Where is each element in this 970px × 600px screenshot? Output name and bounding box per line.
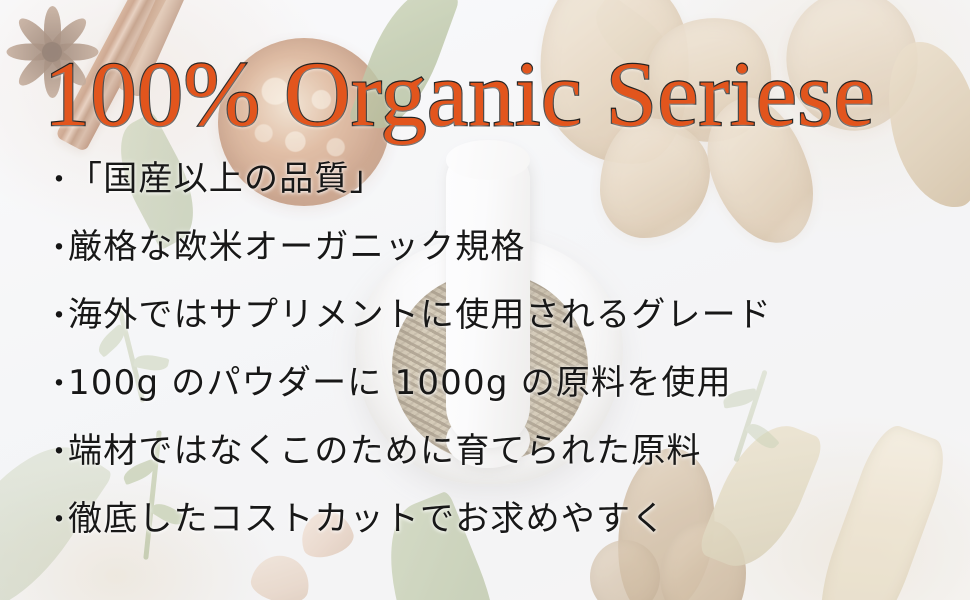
list-item: ・ 厳格な欧米オーガニック規格 bbox=[44, 230, 944, 298]
list-item-label: 端材ではなくこのために育てられた原料 bbox=[68, 434, 702, 468]
list-item-label: 海外ではサプリメントに使用されるグレード bbox=[68, 298, 772, 332]
list-item-label: 「国産以上の品質」 bbox=[68, 162, 385, 196]
list-item: ・ 「国産以上の品質」 bbox=[44, 162, 944, 230]
list-item: ・ 端材ではなくこのために育てられた原料 bbox=[44, 434, 944, 502]
list-item: ・ 海外ではサプリメントに使用されるグレード bbox=[44, 298, 944, 366]
bullet-dot-icon: ・ bbox=[44, 438, 68, 468]
list-item-label: 100g のパウダーに 1000g の原料を使用 bbox=[68, 366, 732, 400]
bullet-dot-icon: ・ bbox=[44, 302, 68, 332]
bullet-dot-icon: ・ bbox=[44, 234, 68, 264]
bullet-dot-icon: ・ bbox=[44, 370, 68, 400]
list-item: ・ 徹底したコストカットでお求めやすく bbox=[44, 502, 944, 570]
bullet-dot-icon: ・ bbox=[44, 506, 68, 536]
page-title: 100% Organic Seriese bbox=[44, 48, 875, 140]
feature-bullet-list: ・ 「国産以上の品質」 ・ 厳格な欧米オーガニック規格 ・ 海外ではサプリメント… bbox=[44, 162, 944, 570]
list-item-label: 厳格な欧米オーガニック規格 bbox=[68, 230, 526, 264]
banner-content: 100% Organic Seriese ・ 「国産以上の品質」 ・ 厳格な欧米… bbox=[0, 0, 970, 600]
organic-series-banner: 100% Organic Seriese ・ 「国産以上の品質」 ・ 厳格な欧米… bbox=[0, 0, 970, 600]
list-item-label: 徹底したコストカットでお求めやすく bbox=[68, 502, 666, 536]
list-item: ・ 100g のパウダーに 1000g の原料を使用 bbox=[44, 366, 944, 434]
bullet-dot-icon: ・ bbox=[44, 166, 68, 196]
